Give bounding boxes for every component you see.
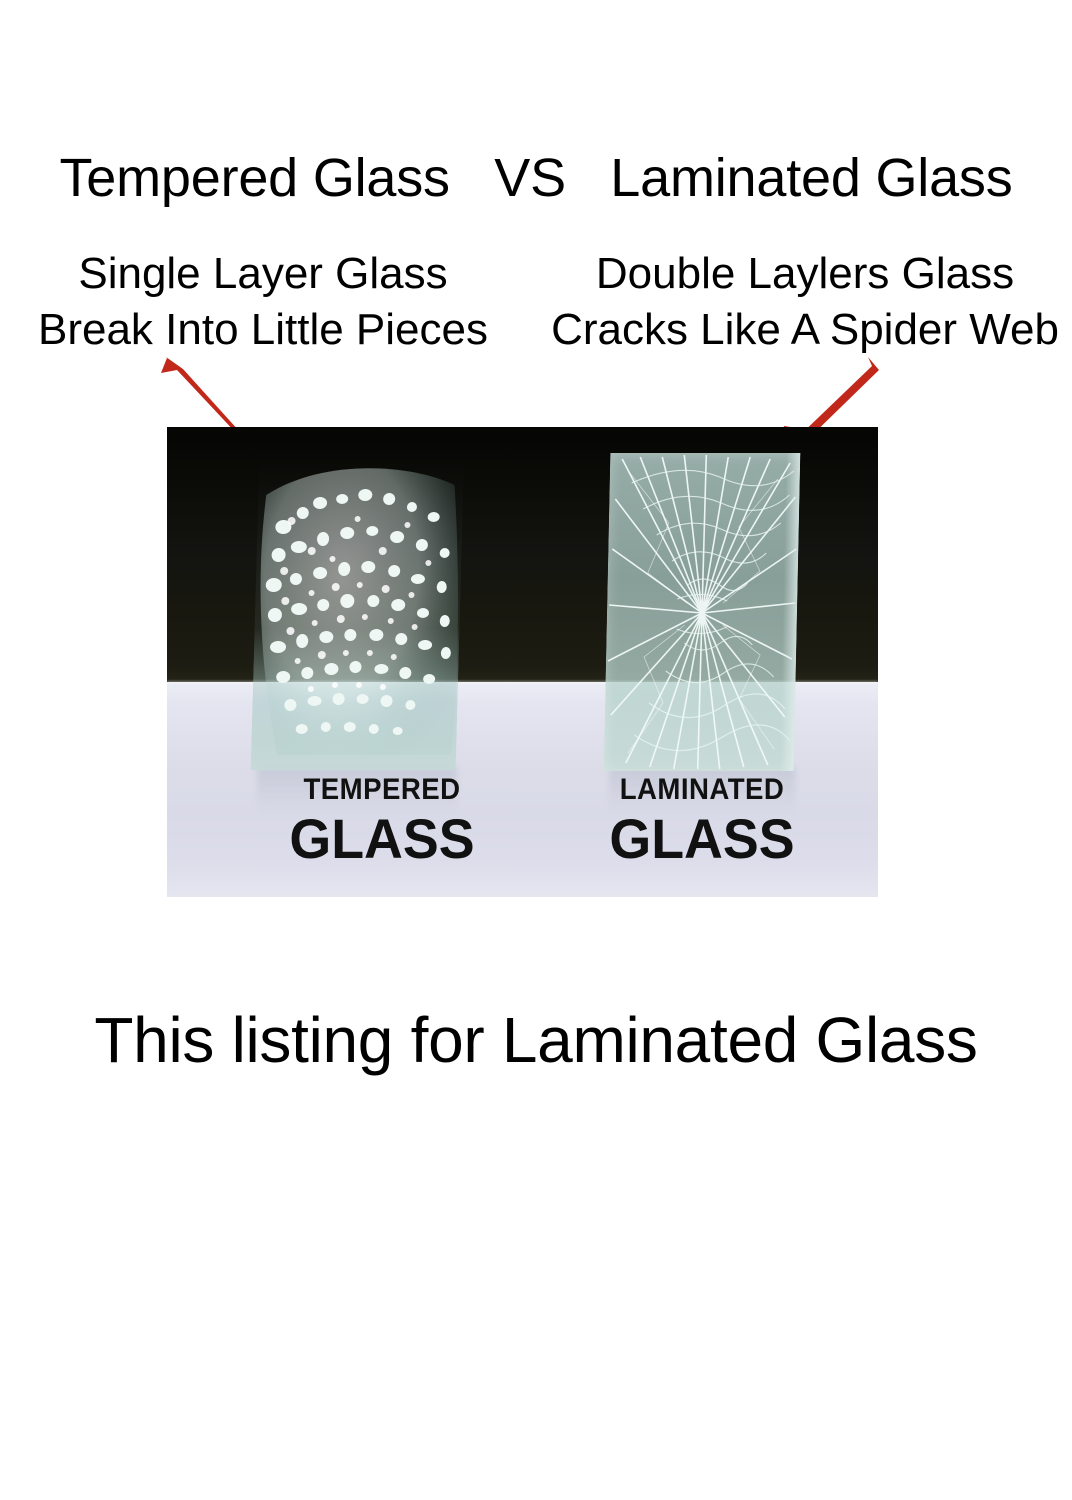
photo-caption-laminated: LAMINATED GLASS — [567, 775, 837, 867]
tempered-glass-panel — [251, 455, 465, 770]
left-description-line-2: Break Into Little Pieces — [8, 302, 518, 358]
laminated-glass-panel — [604, 453, 801, 771]
right-description-line-2: Cracks Like A Spider Web — [538, 302, 1072, 358]
photo-caption-tempered-bottom: GLASS — [262, 811, 502, 867]
tempered-fragments-pattern — [251, 455, 465, 770]
comparison-infographic: Tempered Glass VS Laminated Glass Single… — [0, 0, 1072, 1500]
photo-caption-laminated-bottom: GLASS — [572, 811, 831, 867]
photo-caption-tempered: TEMPERED GLASS — [257, 775, 507, 867]
photo-caption-laminated-top: LAMINATED — [578, 775, 826, 805]
listing-note: This listing for Laminated Glass — [0, 1004, 1072, 1076]
photo-caption-tempered-top: TEMPERED — [267, 775, 497, 805]
right-description-line-1: Double Laylers Glass — [538, 246, 1072, 302]
glass-comparison-photo: TEMPERED GLASS LAMINATED GLASS — [167, 427, 878, 897]
laminated-spiderweb-cracks-pattern — [604, 453, 801, 771]
left-description-column: Single Layer Glass Break Into Little Pie… — [8, 246, 518, 358]
right-description-column: Double Laylers Glass Cracks Like A Spide… — [538, 246, 1072, 358]
left-description-line-1: Single Layer Glass — [8, 246, 518, 302]
page-title: Tempered Glass VS Laminated Glass — [0, 148, 1072, 208]
